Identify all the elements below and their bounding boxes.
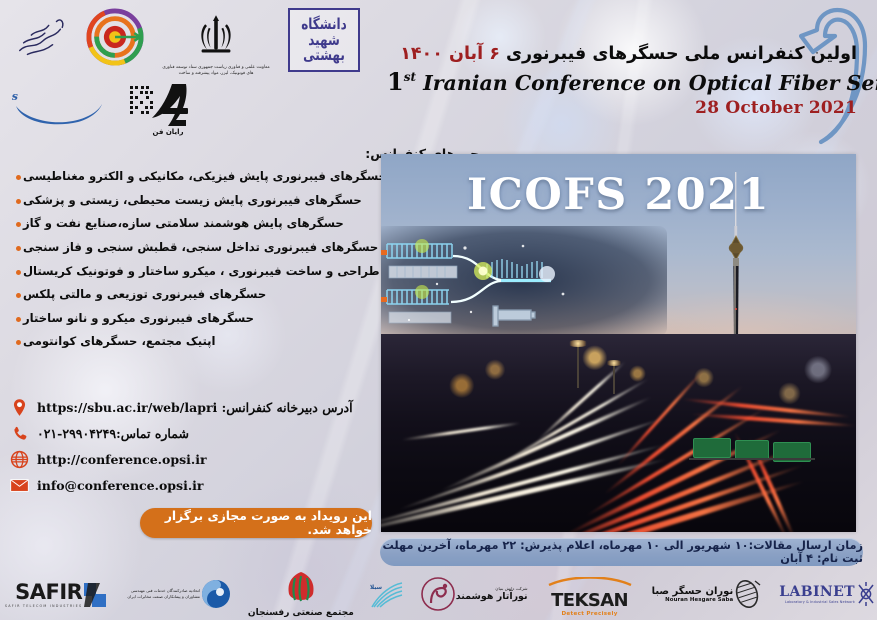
topic-label: حسگرهای فیبرنوری تداخل سنجی، قطبش سنجی و… <box>23 240 378 256</box>
topic-label: حسگرهای فیبرنوری میکرو و نانو ساختار <box>23 311 254 327</box>
title-block: اولین کنفرانس ملی حسگرهای فیبرنوری ۶ آبا… <box>387 44 857 118</box>
globe-icon <box>10 450 29 469</box>
conference-date-fa: ۶ آبان ۱۴۰۰ <box>400 44 500 64</box>
contact-phone-value: ۲۹۹۰۴۲۴۹-۰۲۱ <box>37 426 116 441</box>
sbu-logo-text: دانشگاه شهید بهشتی <box>290 16 358 63</box>
nooratar-title: نورآتار هوشمند <box>456 591 528 602</box>
conference-poster: دانشگاه شهید بهشتی معاونت علمی و فناو <box>0 0 877 620</box>
sponsor-strip: LABINET Laboratory & Industrial Sales Ne… <box>0 568 877 620</box>
highway-sign <box>735 440 769 460</box>
conference-title-en: 1st Iranian Conference on Optical Fiber … <box>387 68 857 96</box>
logo-row-primary: دانشگاه شهید بهشتی معاونت علمی و فناو <box>12 8 360 77</box>
sbu-logo-frame: دانشگاه شهید بهشتی <box>288 8 360 72</box>
teksan-arc-icon <box>547 577 633 586</box>
bullet-icon <box>16 199 21 204</box>
iran-emblem-icon <box>189 8 243 62</box>
conference-title-en-text: Iranian Conference on Optical Fiber Sens… <box>423 71 877 95</box>
bullet-icon <box>16 270 21 275</box>
logo-iranian-optics-photonics-calligraphy <box>12 8 70 66</box>
ettehadieh-subtitle: مشاوران و پیمانکاران صنعت مخابرات ایران <box>127 594 200 600</box>
contact-website-value[interactable]: http://conference.opsi.ir <box>37 452 207 467</box>
bullet-icon <box>16 246 21 251</box>
sponsor-teksan: TEKSAN Detect Precisely <box>547 571 633 617</box>
topic-label: حسگرهای فیبرنوری پایش زیست محیطی، زیستی … <box>23 193 362 209</box>
contact-address-value: https://sbu.ac.ir/web/lapri <box>37 400 217 415</box>
labinet-subtitle: Laboratory & Industrial Sales Network <box>779 600 855 604</box>
location-pin-icon <box>10 398 29 417</box>
icofs-overlay-title: ICOFS 2021 <box>381 170 856 220</box>
labinet-mark-icon <box>855 581 877 607</box>
sponsor-safir: SAFIR SAFIR TELECOM INDUSTRIES <box>4 579 109 609</box>
sponsor-mojtame-sanati-rafsanjan: مجتمع صنعتی رفسنجان <box>248 570 354 618</box>
bullet-icon <box>16 222 21 227</box>
logo-row-secondary: رایان فن Kish Mechatronics <box>12 82 208 136</box>
rafsanjan-emblem-icon <box>283 570 319 604</box>
safir-subtitle: SAFIR TELECOM INDUSTRIES <box>5 604 83 608</box>
teksan-subtitle: Detect Precisely <box>547 611 633 617</box>
sabalan-title: سبلان <box>370 585 382 591</box>
sponsor-nouran-hesgare-saba: نوران حسگر صبا Nouran Hesgare Saba <box>649 579 762 609</box>
topic-label: اپتیک مجتمع، حسگرهای کوانتومی <box>23 334 216 350</box>
ordinal-number: 1st <box>387 67 416 96</box>
ettehadieh-sphere-icon <box>200 578 232 610</box>
safir-title: SAFIR <box>5 580 83 604</box>
sponsor-sabalan-sanat: سبلان <box>370 579 404 609</box>
logo-shahid-beheshti-university: دانشگاه شهید بهشتی <box>288 8 360 72</box>
fiber-sensor-diagram <box>381 226 667 336</box>
nouran-coil-icon <box>733 579 761 609</box>
persian-calligraphy-icon <box>12 8 70 66</box>
rayan-fan-caption: رایان فن <box>153 128 184 136</box>
bullet-icon <box>16 317 21 322</box>
nooratar-emblem-icon <box>420 576 456 612</box>
logo-kish-mechatronics: Kish Mechatronics <box>12 82 106 130</box>
topic-label: حسگرهای فیبرنوری توزیعی و مالتی پلکس <box>23 287 266 303</box>
topic-label: طراحی و ساخت فیبرنوری ، میکرو ساختار و ف… <box>23 264 380 280</box>
kish-mechatronics-icon: Kish Mechatronics <box>12 82 106 130</box>
sponsor-labinet: LABINET Laboratory & Industrial Sales Ne… <box>777 581 877 607</box>
logo-rayan-fan: رایان فن <box>128 82 208 136</box>
nouran-title: نوران حسگر صبا <box>652 586 734 597</box>
highway-night-scene <box>381 334 856 532</box>
bullet-icon <box>16 175 21 180</box>
contact-phone-label: شماره تماس:۲۹۹۰۴۲۴۹-۰۲۱ <box>37 426 189 441</box>
opsi-rainbow-icon <box>86 8 144 66</box>
contact-email-value[interactable]: info@conference.opsi.ir <box>37 478 204 493</box>
deadline-banner: زمان ارسال مقالات:۱۰ شهریور الی ۱۰ مهرما… <box>380 538 863 566</box>
bullet-icon <box>16 340 21 345</box>
iran-vice-presidency-caption: معاونت علمی و فناوری ریاست جمهوری ستاد ت… <box>160 65 272 77</box>
sponsor-nooratar-hooshmand: شرکت دانش بنیان نورآتار هوشمند <box>420 576 531 612</box>
sabalan-wave-icon: سبلان <box>370 579 404 609</box>
topic-label: حسگرهای پایش هوشمند سلامتی سازه،صنایع نف… <box>23 216 344 232</box>
bullet-icon <box>16 293 21 298</box>
photonic-chip-graphic <box>381 226 667 336</box>
highway-sign <box>693 438 731 458</box>
labinet-title: LABINET <box>779 584 855 600</box>
sponsor-ettehadieh: اتحادیه صادرکنندگان خدمات فنی مهندسی مشا… <box>124 578 232 610</box>
logo-iran-vice-presidency: معاونت علمی و فناوری ریاست جمهوری ستاد ت… <box>160 8 272 77</box>
topic-label: حسگرهای فیبرنوری پایش فیزیکی، مکانیکی و … <box>23 169 387 185</box>
contact-address-label: آدرس دبیرخانه کنفرانس: https://sbu.ac.ir… <box>37 400 353 415</box>
rayan-fan-icon <box>128 82 208 134</box>
teksan-title: TEKSAN <box>547 590 633 611</box>
main-photo-panel: ICOFS 2021 <box>381 154 856 532</box>
rafsanjan-title: مجتمع صنعتی رفسنجان <box>248 608 354 618</box>
safir-mark-icon <box>82 579 108 609</box>
nouran-subtitle: Nouran Hesgare Saba <box>652 597 734 603</box>
phone-icon <box>10 424 29 443</box>
conference-date-en: 28 October 2021 <box>387 98 857 118</box>
conference-title-fa-main: اولین کنفرانس ملی حسگرهای فیبرنوری <box>506 44 857 64</box>
virtual-event-badge: این رویداد به صورت مجازی برگزار خواهد شد… <box>140 508 372 538</box>
conference-title-fa: اولین کنفرانس ملی حسگرهای فیبرنوری ۶ آبا… <box>387 44 857 66</box>
poster-header: دانشگاه شهید بهشتی معاونت علمی و فناو <box>0 0 877 148</box>
envelope-icon <box>10 476 29 495</box>
svg-text:Kish Mechatronics: Kish Mechatronics <box>12 90 18 103</box>
logo-optics-photonics-society <box>86 8 144 66</box>
